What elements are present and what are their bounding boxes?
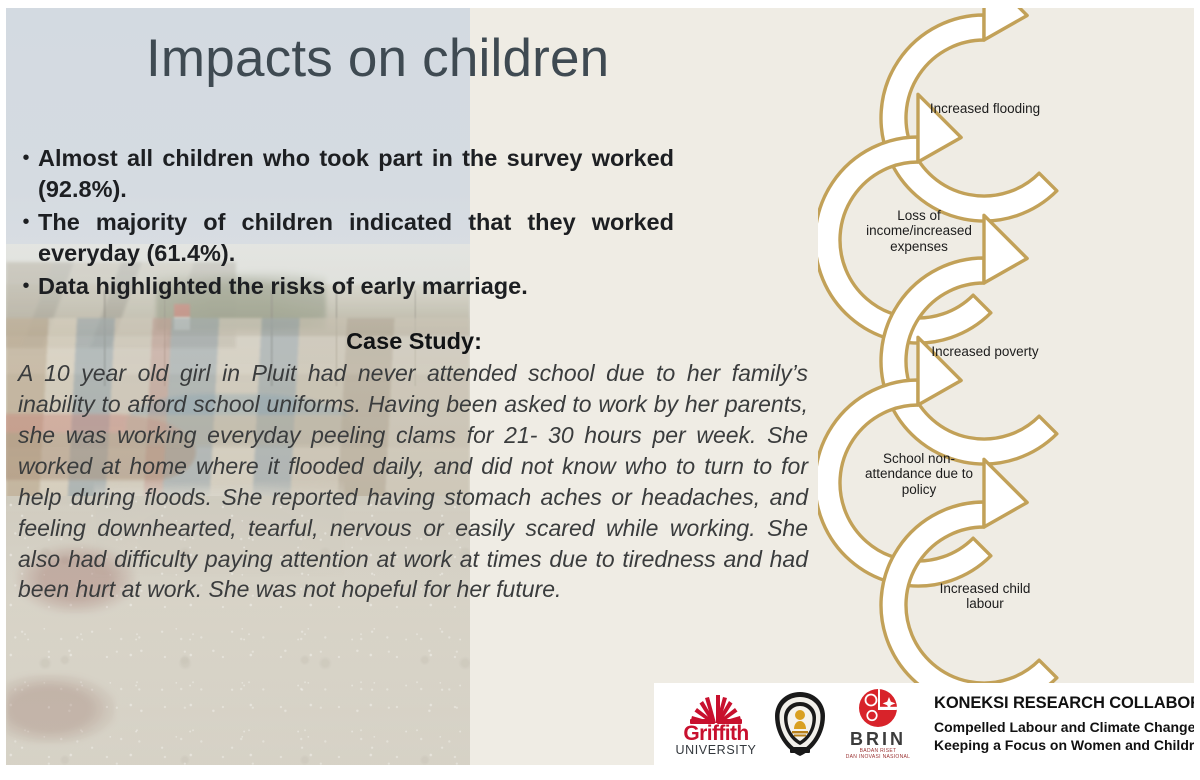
banner-text-block: KONEKSI RESEARCH COLLABORATION Compelled…: [934, 694, 1194, 754]
cycle-label-loss-of-income: Loss of income/increased expenses: [844, 208, 994, 254]
bullet-text: The majority of children indicated that …: [38, 207, 674, 270]
universitas-negeri-semarang-seal-icon: [770, 690, 830, 758]
bullet-item: • Data highlighted the risks of early ma…: [14, 271, 674, 302]
bullet-marker-icon: •: [14, 271, 38, 301]
cycle-label-increased-child-labour: Increased child labour: [910, 581, 1060, 612]
bullet-item: • The majority of children indicated tha…: [14, 207, 674, 270]
presentation-slide: Impacts on children • Almost all childre…: [6, 8, 1194, 765]
brin-emblem-icon: [836, 688, 920, 728]
griffith-university-logo: Griffith UNIVERSITY: [666, 689, 766, 759]
griffith-flame-icon: [666, 689, 766, 725]
bullet-text: Data highlighted the risks of early marr…: [38, 271, 674, 302]
case-study-body: A 10 year old girl in Pluit had never at…: [18, 358, 808, 605]
bullet-marker-icon: •: [14, 207, 38, 237]
case-study-heading: Case Study:: [14, 328, 814, 355]
impact-cycle-diagram: Increased flooding Loss of income/increa…: [818, 8, 1194, 708]
bullet-text: Almost all children who took part in the…: [38, 143, 674, 206]
koneksi-subtitle: Compelled Labour and Climate Change: Kee…: [934, 718, 1194, 754]
slide-title: Impacts on children: [146, 30, 706, 87]
bullet-marker-icon: •: [14, 143, 38, 173]
cycle-label-school-non-attendance: School non- attendance due to policy: [844, 451, 994, 497]
koneksi-title: KONEKSI RESEARCH COLLABORATION: [934, 694, 1194, 713]
cycle-label-increased-flooding: Increased flooding: [910, 101, 1060, 116]
griffith-university-text: UNIVERSITY: [666, 743, 766, 757]
bullet-list: • Almost all children who took part in t…: [14, 143, 674, 303]
cycle-label-increased-poverty: Increased poverty: [910, 344, 1060, 359]
footer-banner: Griffith UNIVERSITY: [654, 683, 1194, 765]
bullet-item: • Almost all children who took part in t…: [14, 143, 674, 206]
brin-tagline: BADAN RISET DAN INOVASI NASIONAL: [836, 748, 920, 761]
brin-wordmark: BRIN: [836, 729, 920, 750]
brin-logo: BRIN BADAN RISET DAN INOVASI NASIONAL: [836, 688, 920, 760]
